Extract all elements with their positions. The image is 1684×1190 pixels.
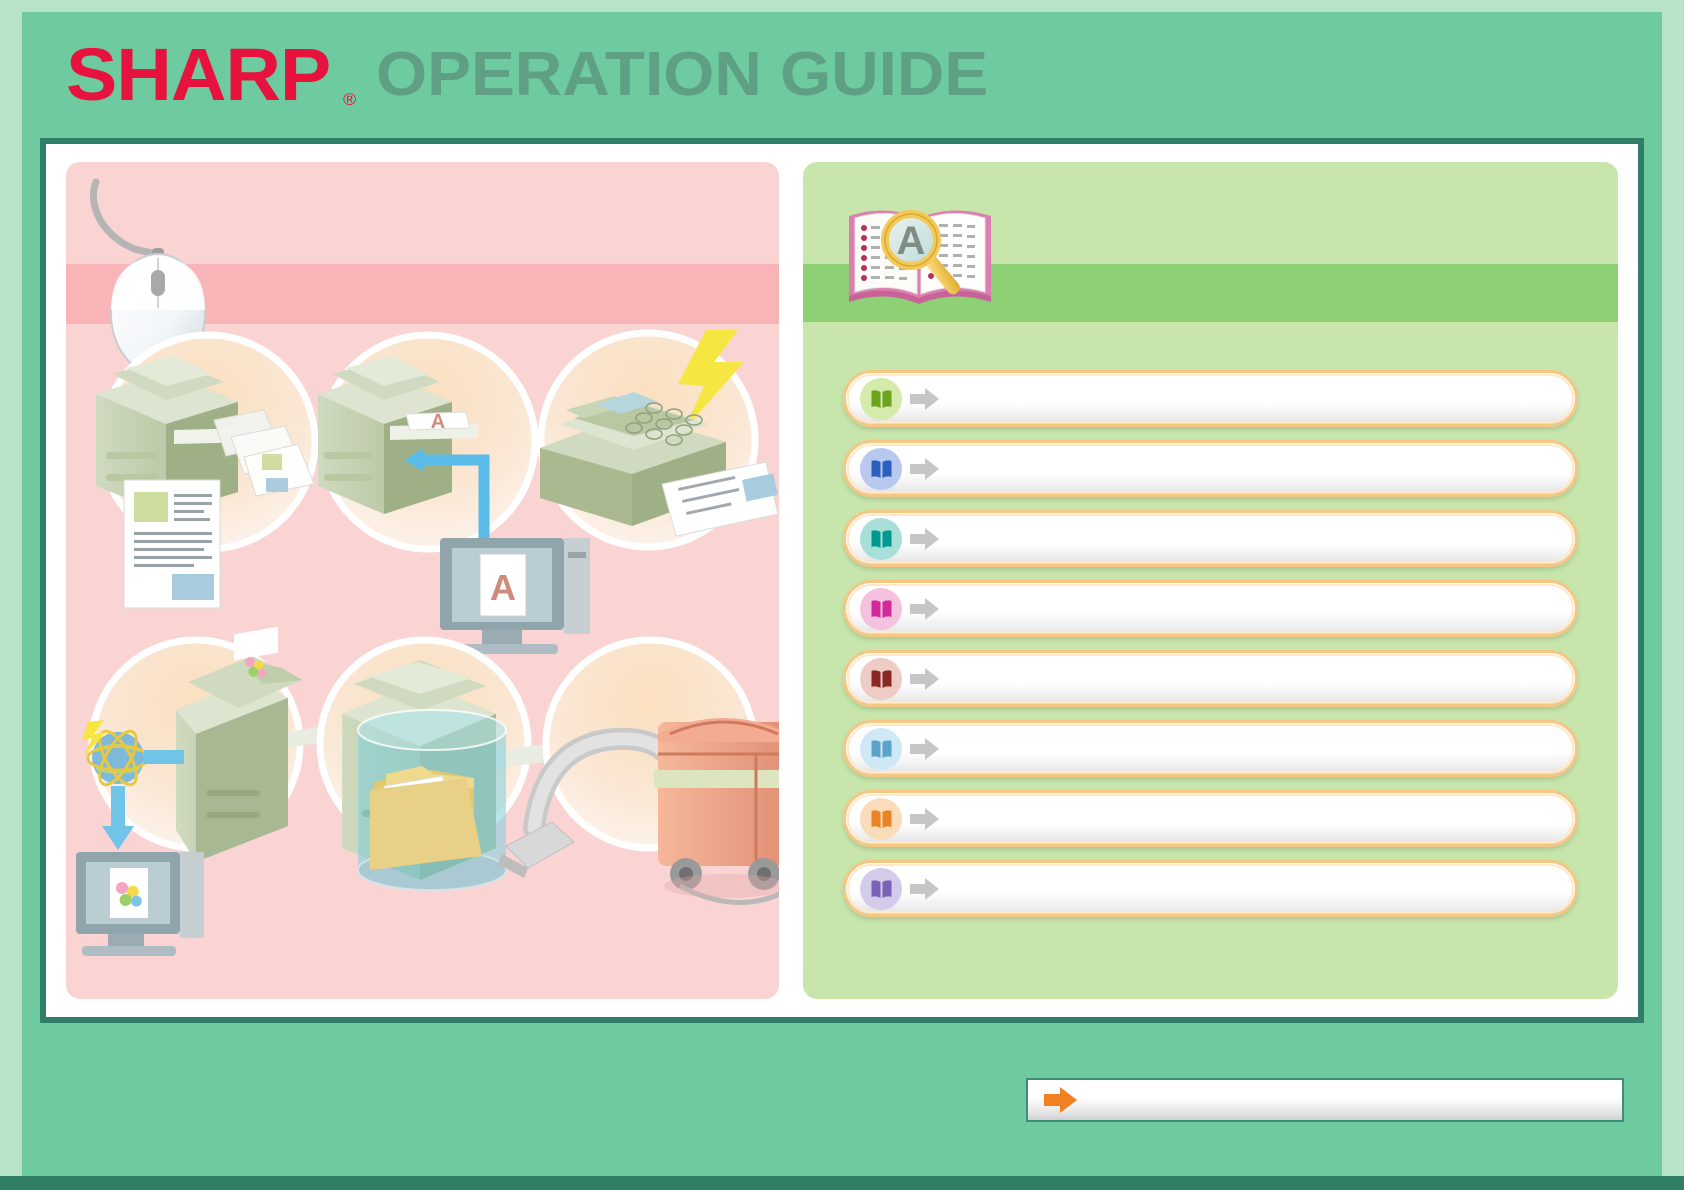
sharp-logo: SHARP ® (66, 38, 357, 112)
manual-index-panel: A (803, 162, 1618, 999)
right-arrow-icon (910, 526, 940, 552)
right-arrow-icon (910, 876, 940, 902)
book-icon (860, 588, 902, 630)
page-rim-right (1662, 0, 1684, 1190)
page-rim-left (0, 0, 22, 1190)
next-page-button[interactable] (1026, 1078, 1624, 1122)
right-arrow-icon (910, 596, 940, 622)
book-icon (860, 378, 902, 420)
list-item[interactable] (843, 440, 1578, 497)
page-header: SHARP ® OPERATION GUIDE (22, 12, 1662, 137)
list-item[interactable] (843, 650, 1578, 707)
orange-right-arrow-icon (1044, 1086, 1078, 1114)
navigation-bar (22, 1023, 1662, 1176)
feature-illustrations-panel: A A (66, 162, 779, 999)
book-icon (860, 728, 902, 770)
right-arrow-icon (910, 806, 940, 832)
list-item[interactable] (843, 510, 1578, 567)
registered-trademark-icon: ® (343, 91, 355, 108)
content-frame: A A (40, 138, 1644, 1023)
right-arrow-icon (910, 736, 940, 762)
operation-guide-page: SHARP ® OPERATION GUIDE (0, 0, 1684, 1190)
illustration-canvas: A A (66, 162, 779, 999)
svg-text:A: A (431, 411, 445, 433)
fax-machine-icon (540, 330, 778, 547)
list-item[interactable] (843, 720, 1578, 777)
page-rim-top (0, 0, 1684, 12)
page-rim-bottom (0, 1176, 1684, 1190)
book-icon (860, 518, 902, 560)
list-item[interactable] (843, 790, 1578, 847)
book-icon (860, 658, 902, 700)
list-item[interactable] (843, 860, 1578, 917)
vacuum-cleaner-icon (498, 640, 779, 903)
book-icon (860, 868, 902, 910)
page-title: OPERATION GUIDE (376, 44, 988, 106)
book-icon (860, 798, 902, 840)
svg-text:A: A (490, 567, 516, 608)
scanner-network-icon (76, 627, 334, 956)
svg-text:A: A (897, 219, 926, 263)
copier-with-pages-icon (96, 335, 315, 608)
right-arrow-icon (910, 386, 940, 412)
book-icon (860, 448, 902, 490)
open-book-with-magnifier-icon: A (841, 190, 1001, 318)
right-arrow-icon (910, 666, 940, 692)
list-item[interactable] (843, 370, 1578, 427)
right-arrow-icon (910, 456, 940, 482)
sharp-wordmark: SHARP (66, 33, 330, 116)
manual-index-list (843, 370, 1578, 917)
list-item[interactable] (843, 580, 1578, 637)
